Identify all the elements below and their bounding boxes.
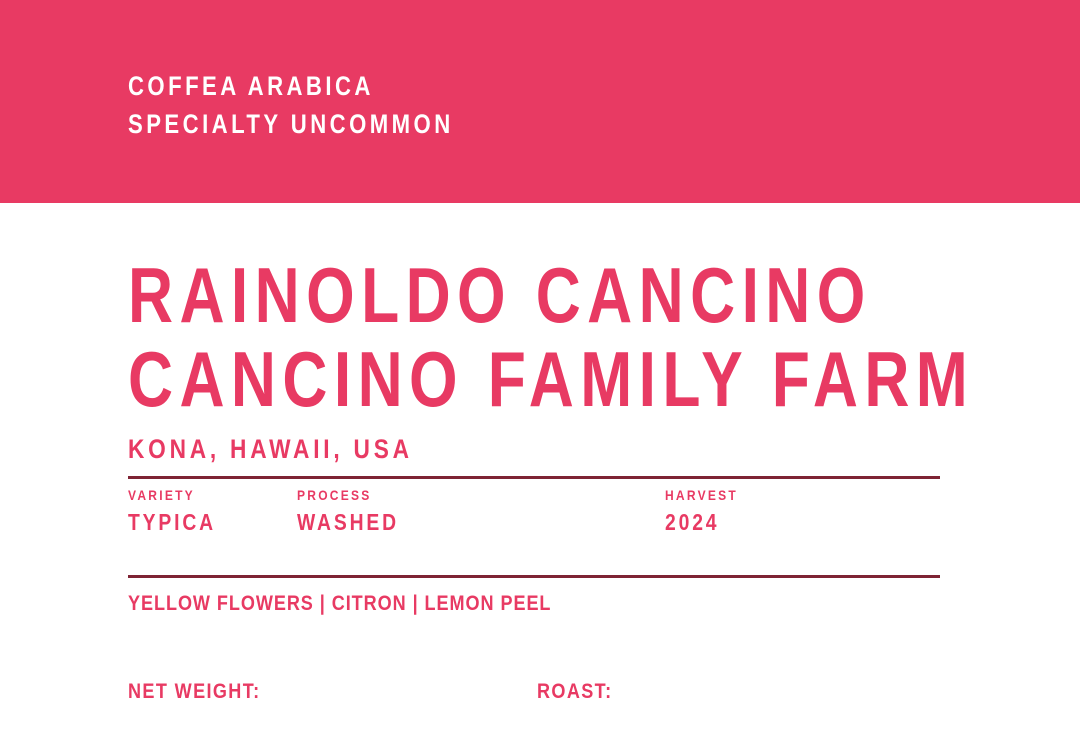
header-line-tagline: SPECIALTY UNCOMMON (128, 105, 454, 143)
footer-fields: NET WEIGHT: ROAST: (0, 679, 1080, 719)
label-body: RAINOLDO CANCINO CANCINO FAMILY FARM KON… (0, 203, 1080, 756)
header-text-block: COFFEA ARABICA SPECIALTY UNCOMMON (128, 67, 525, 143)
spec-row: VARIETY TYPICA PROCESS WASHED HARVEST 20… (0, 487, 1080, 547)
spec-process: PROCESS WASHED (297, 487, 418, 536)
spec-harvest: HARVEST 2024 (665, 487, 750, 536)
origin-location: KONA, HAWAII, USA (128, 434, 413, 464)
divider-rule-bottom (128, 575, 940, 578)
header-band: COFFEA ARABICA SPECIALTY UNCOMMON (0, 0, 1080, 203)
spec-process-value: WASHED (297, 508, 399, 536)
net-weight-label: NET WEIGHT: (128, 679, 261, 705)
tasting-notes: YELLOW FLOWERS | CITRON | LEMON PEEL (128, 591, 551, 617)
header-line-species: COFFEA ARABICA (128, 67, 454, 105)
roast-label: ROAST: (537, 679, 612, 705)
spec-variety: VARIETY TYPICA (128, 487, 233, 536)
spec-process-label: PROCESS (297, 487, 401, 504)
divider-rule-top (128, 476, 940, 479)
coffee-label-card: COFFEA ARABICA SPECIALTY UNCOMMON RAINOL… (0, 0, 1080, 756)
farm-name: CANCINO FAMILY FARM (128, 340, 974, 418)
producer-name: RAINOLDO CANCINO (128, 256, 872, 334)
spec-harvest-value: 2024 (665, 508, 736, 536)
spec-variety-value: TYPICA (128, 508, 216, 536)
spec-harvest-label: HARVEST (665, 487, 738, 504)
spec-variety-label: VARIETY (128, 487, 218, 504)
